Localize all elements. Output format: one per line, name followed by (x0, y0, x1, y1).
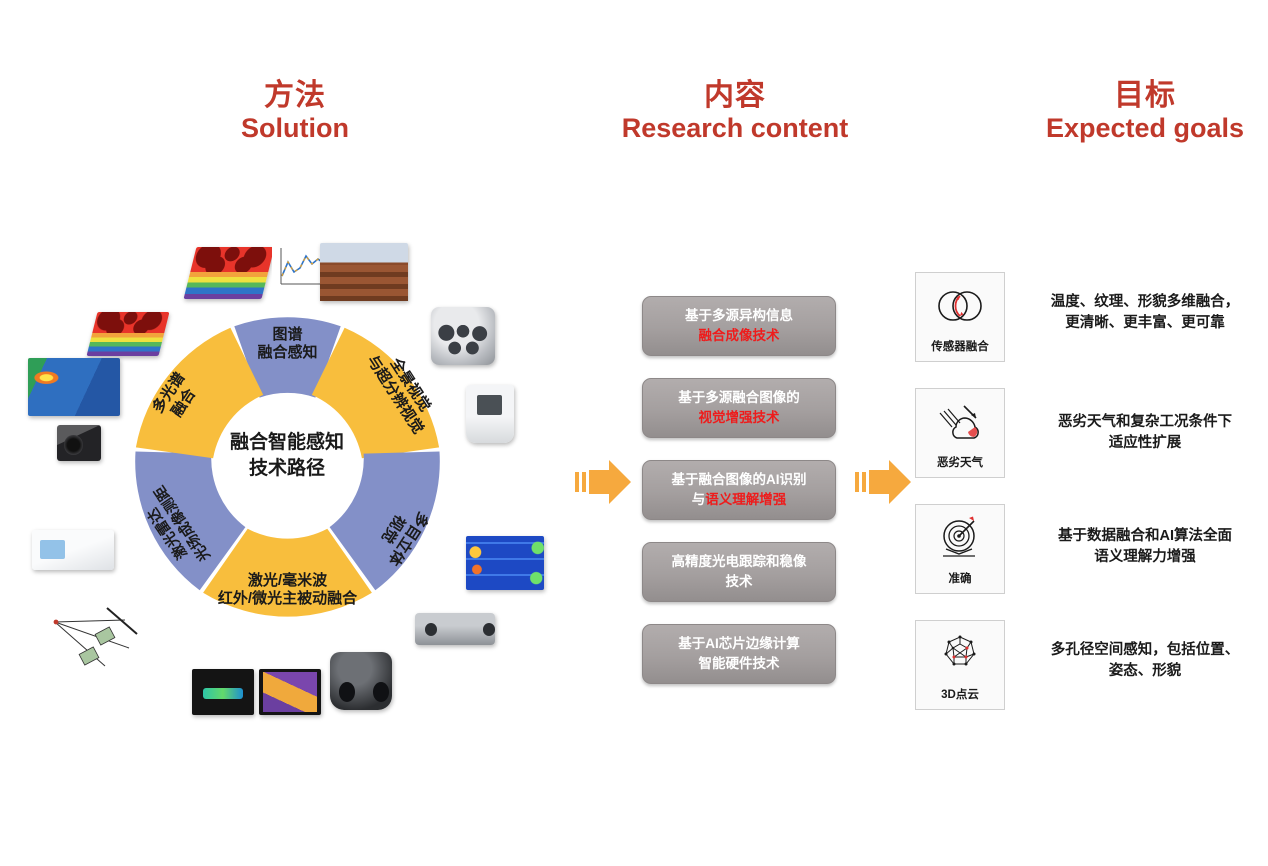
header-goals-en: Expected goals (1000, 113, 1268, 145)
white-ptz-camera (466, 385, 514, 443)
research-box-4-line1: 高精度光电跟踪和稳像 (672, 552, 807, 572)
research-box-2-line2: 视觉增强技术 (678, 408, 800, 428)
donut-label-top: 图谱 融合感知 (220, 326, 355, 363)
page-title-expected-goals: 目标 Expected goals (1000, 78, 1268, 145)
header-solution-cn: 方法 (150, 78, 440, 113)
research-box-3-line2: 与语义理解增强 (672, 490, 807, 510)
goal-text-1-line2: 更清晰、更丰富、更可靠 (1020, 313, 1268, 334)
research-box-2-text: 基于多源融合图像的 视觉增强技术 (678, 388, 800, 427)
research-box-3[interactable]: 基于融合图像的AI识别 与语义理解增强 (642, 460, 836, 520)
goal-text-3: 基于数据融合和AI算法全面 语义理解力增强 (1020, 526, 1268, 567)
point-cloud-sphere-icon (916, 621, 1004, 686)
donut-center-label: 融合智能感知 技术路径 (187, 430, 387, 481)
goal-text-4-line2: 姿态、形貌 (1020, 661, 1268, 682)
laser-optics-module (32, 530, 114, 570)
spectral-sample-dots (190, 247, 274, 272)
goal-text-2-line1: 恶劣天气和复杂工况条件下 (1020, 412, 1268, 433)
research-box-5-text: 基于AI芯片边缘计算 智能硬件技术 (678, 634, 800, 673)
arrow-right-icon (575, 458, 633, 506)
ir-thermal-ship-image (192, 669, 254, 715)
page-title-solution: 方法 Solution (150, 78, 440, 145)
research-box-5-line2: 智能硬件技术 (678, 654, 800, 674)
goal-card-1-caption: 传感器融合 (931, 338, 989, 361)
goal-text-1-line1: 温度、纹理、形貌多维融合， (1020, 292, 1268, 313)
goal-text-3-line1: 基于数据融合和AI算法全面 (1020, 526, 1268, 547)
research-box-3-line1: 基于融合图像的AI识别 (672, 470, 807, 490)
arrow-right-icon-2 (855, 458, 913, 506)
hyperspectral-cube-top (184, 247, 275, 299)
header-content-en: Research content (590, 113, 880, 145)
rain-cloud-icon (916, 389, 1004, 454)
industrial-camera (57, 425, 101, 461)
page-title-research-content: 内容 Research content (590, 78, 880, 145)
research-box-2-line1: 基于多源融合图像的 (678, 388, 800, 408)
industrial-pipe-photo (320, 243, 408, 301)
research-box-4[interactable]: 高精度光电跟踪和稳像 技术 (642, 542, 836, 602)
research-box-3-line2-highlight: 语义理解增强 (705, 492, 786, 507)
header-content-cn: 内容 (590, 78, 880, 113)
goal-text-4-line1: 多孔径空间感知，包括位置、 (1020, 640, 1268, 661)
research-box-5[interactable]: 基于AI芯片边缘计算 智能硬件技术 (642, 624, 836, 684)
research-box-1-text: 基于多源异构信息 融合成像技术 (685, 306, 793, 345)
goal-card-2-caption: 恶劣天气 (937, 454, 983, 477)
arrow-content-to-goals (855, 458, 913, 506)
goal-card-3-caption: 准确 (949, 570, 972, 593)
research-box-4-line2: 技术 (672, 572, 807, 592)
research-box-2[interactable]: 基于多源融合图像的 视觉增强技术 (642, 378, 836, 438)
goal-text-4: 多孔径空间感知，包括位置、 姿态、形貌 (1020, 640, 1268, 681)
goal-text-1: 温度、纹理、形貌多维融合， 更清晰、更丰富、更可靠 (1020, 292, 1268, 333)
ir-thermal-scene-image (259, 669, 321, 715)
diagram-canvas: 方法 Solution 内容 Research content 目标 Expec… (0, 0, 1268, 866)
research-box-1-line1: 基于多源异构信息 (685, 306, 793, 326)
research-box-1-line2: 融合成像技术 (685, 326, 793, 346)
goal-text-2-line2: 适应性扩展 (1020, 433, 1268, 454)
goal-text-2: 恶劣天气和复杂工况条件下 适应性扩展 (1020, 412, 1268, 453)
goal-card-bad-weather[interactable]: 恶劣天气 (915, 388, 1005, 478)
arrow-solution-to-content (575, 458, 633, 506)
goal-text-3-line2: 语义理解力增强 (1020, 547, 1268, 568)
blue-depth-grid-image (466, 536, 544, 590)
donut-center-line1: 融合智能感知 (187, 430, 387, 456)
goal-card-4-caption: 3D点云 (941, 686, 979, 709)
venn-circles-icon (916, 273, 1004, 338)
gimbal-eo-ir-turret (330, 652, 392, 710)
goal-card-sensor-fusion[interactable]: 传感器融合 (915, 272, 1005, 362)
header-solution-en: Solution (150, 113, 440, 145)
thermal-scene-image (28, 358, 120, 416)
research-box-5-line1: 基于AI芯片边缘计算 (678, 634, 800, 654)
research-box-3-text: 基于融合图像的AI识别 与语义理解增强 (672, 470, 807, 509)
solution-donut-chart: 融合智能感知 技术路径 图谱 融合感知 全景视觉 与超分辨视觉 多目立体 视觉 … (115, 300, 460, 645)
goal-card-accuracy[interactable]: 准确 (915, 504, 1005, 594)
research-box-4-text: 高精度光电跟踪和稳像 技术 (672, 552, 807, 591)
goal-card-3d-point-cloud[interactable]: 3D点云 (915, 620, 1005, 710)
research-box-1[interactable]: 基于多源异构信息 融合成像技术 (642, 296, 836, 356)
header-goals-cn: 目标 (1000, 78, 1268, 113)
target-dart-icon (916, 505, 1004, 570)
donut-center-line2: 技术路径 (187, 456, 387, 482)
research-box-3-line2-prefix: 与 (692, 492, 706, 507)
